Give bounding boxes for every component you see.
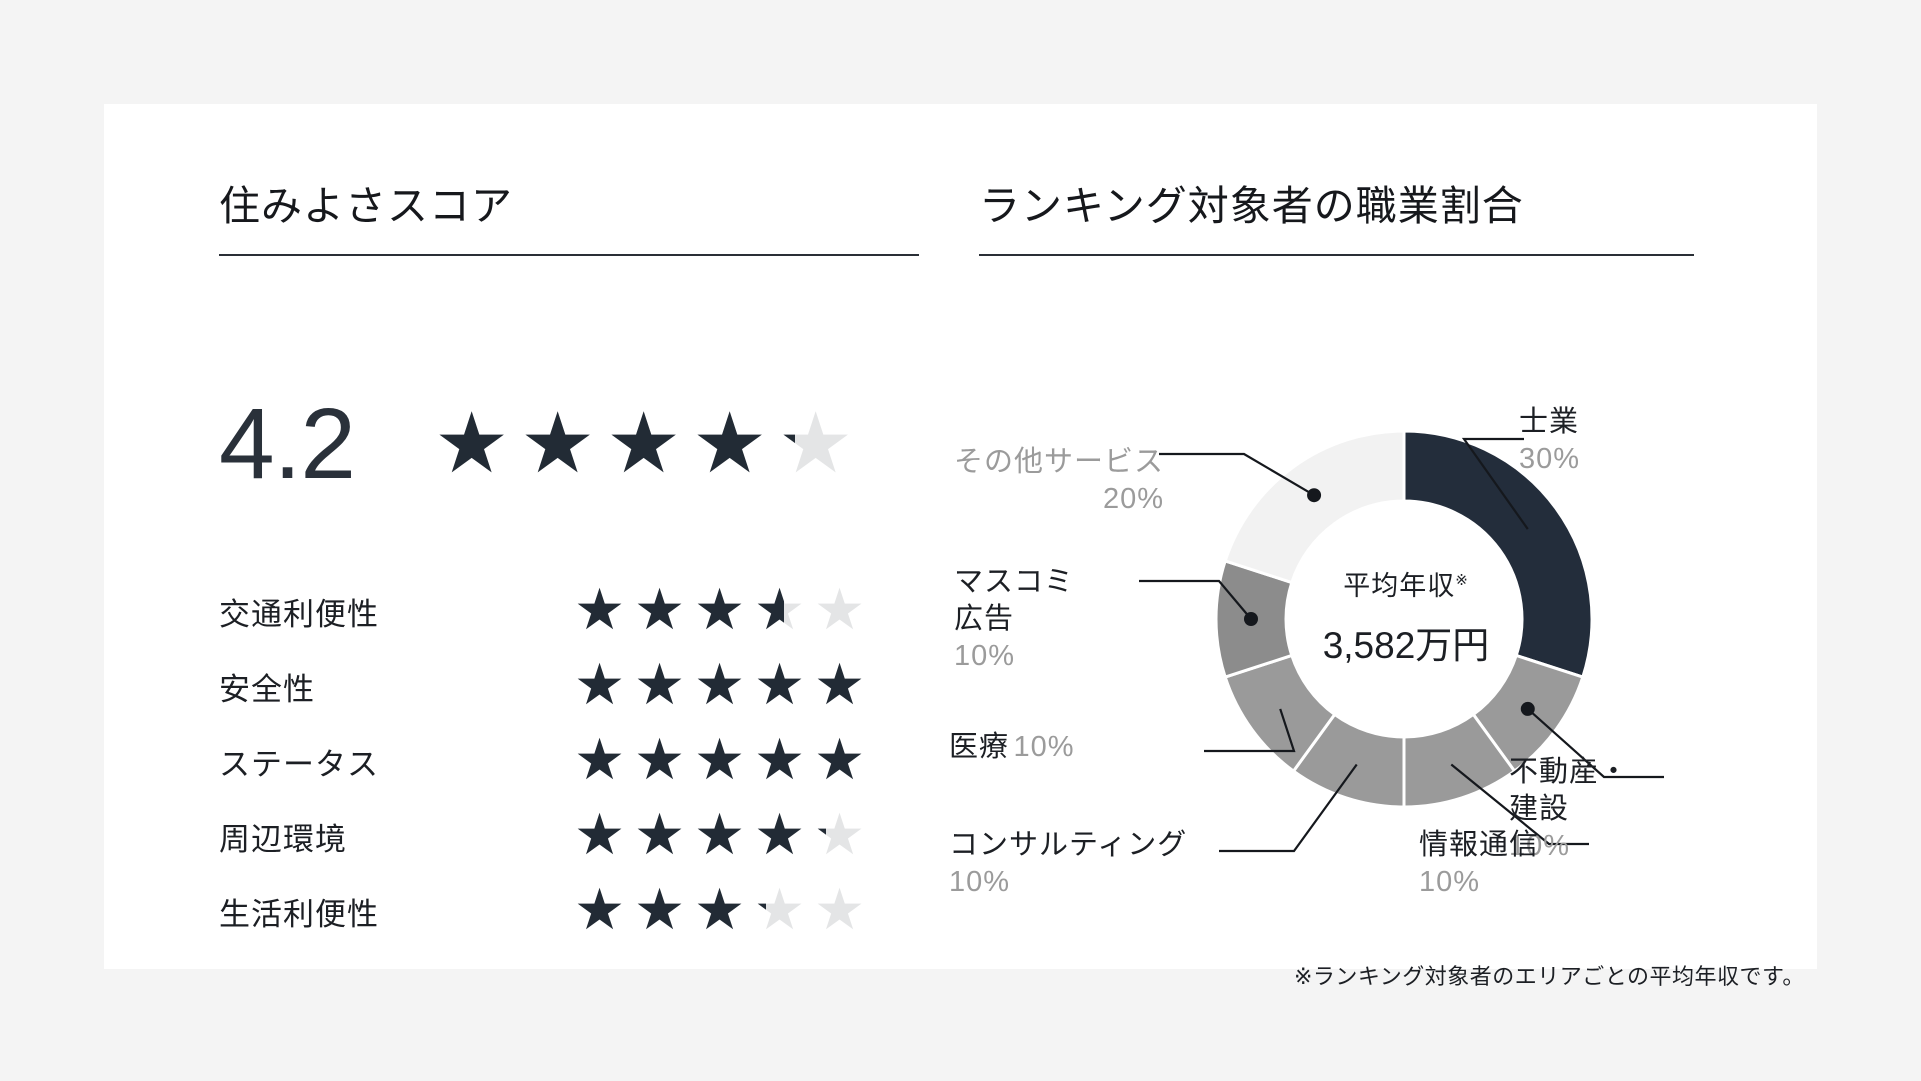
star-icon: ★★	[634, 732, 694, 792]
overall-star-rating: ★★★★★★★★★★	[434, 401, 864, 487]
star-icon: ★★	[754, 657, 814, 717]
star-filled-glyph: ★	[692, 401, 778, 485]
metric-row: 安全性★★★★★★★★★★	[219, 649, 919, 724]
star-icon: ★★	[574, 807, 634, 867]
star-icon: ★★	[694, 732, 754, 792]
star-filled-glyph: ★	[520, 401, 606, 485]
star-filled-glyph: ★	[606, 401, 692, 485]
star-icon: ★★	[814, 732, 874, 792]
star-filled-glyph: ★	[814, 657, 874, 714]
star-icon: ★★	[694, 582, 754, 642]
star-icon: ★★	[434, 401, 520, 487]
content-card: 住みよさスコア 4.2 ★★★★★★★★★★ 交通利便性★★★★★★★★★★安全…	[104, 104, 1817, 969]
star-filled-glyph: ★	[814, 807, 826, 864]
star-empty-glyph: ★	[814, 582, 874, 639]
overall-score-row: 4.2 ★★★★★★★★★★	[219, 394, 864, 494]
star-icon: ★★	[694, 657, 754, 717]
star-filled-glyph: ★	[574, 657, 634, 714]
star-empty-glyph: ★	[814, 882, 874, 939]
average-income-label: 平均年収※	[1286, 564, 1526, 603]
star-icon: ★★	[634, 582, 694, 642]
star-icon: ★★	[574, 882, 634, 942]
leader-dot	[1521, 702, 1535, 716]
metric-row: ステータス★★★★★★★★★★	[219, 724, 919, 799]
metric-star-rating: ★★★★★★★★★★	[574, 882, 874, 942]
star-filled-glyph: ★	[574, 732, 634, 789]
star-filled-glyph: ★	[754, 732, 814, 789]
star-icon: ★★	[754, 582, 814, 642]
star-filled-glyph: ★	[634, 807, 694, 864]
metric-label: 周辺環境	[219, 814, 574, 859]
star-icon: ★★	[634, 657, 694, 717]
star-filled-glyph: ★	[634, 882, 694, 939]
donut-chart: 平均年収※ 3,582万円 その他サービス 20% マスコミ 広告 10% 医療…	[964, 319, 1784, 919]
star-icon: ★★	[634, 882, 694, 942]
star-filled-glyph: ★	[574, 882, 634, 939]
star-filled-glyph: ★	[694, 882, 754, 939]
star-filled-glyph: ★	[694, 582, 754, 639]
metric-label: ステータス	[219, 739, 574, 784]
star-icon: ★★	[754, 807, 814, 867]
star-filled-glyph: ★	[778, 401, 795, 485]
star-icon: ★★	[520, 401, 606, 487]
metric-star-rating: ★★★★★★★★★★	[574, 657, 874, 717]
star-icon: ★★	[754, 732, 814, 792]
chart-footnote: ※ランキング対象者のエリアごとの平均年収です。	[1294, 959, 1805, 991]
leader-dot	[1244, 612, 1258, 626]
donut-segment[interactable]	[1225, 431, 1404, 583]
panel-title-livability: 住みよさスコア	[219, 172, 919, 232]
metric-star-rating: ★★★★★★★★★★	[574, 807, 874, 867]
star-icon: ★★	[634, 807, 694, 867]
metric-label: 交通利便性	[219, 589, 574, 634]
star-icon: ★★	[754, 882, 814, 942]
star-icon: ★★	[814, 882, 874, 942]
star-icon: ★★	[574, 657, 634, 717]
label-media-advertising: マスコミ 広告 10%	[954, 564, 1074, 675]
star-icon: ★★	[694, 882, 754, 942]
metric-label: 生活利便性	[219, 889, 574, 934]
star-filled-glyph: ★	[754, 582, 784, 639]
star-icon: ★★	[814, 657, 874, 717]
title-divider-left	[219, 254, 919, 256]
donut-center-text: 平均年収※ 3,582万円	[1286, 564, 1526, 669]
star-filled-glyph: ★	[694, 807, 754, 864]
star-icon: ★★	[814, 807, 874, 867]
star-icon: ★★	[574, 732, 634, 792]
star-filled-glyph: ★	[434, 401, 520, 485]
metric-label: 安全性	[219, 664, 574, 709]
star-filled-glyph: ★	[574, 807, 634, 864]
metric-star-rating: ★★★★★★★★★★	[574, 732, 874, 792]
footnote-mark: ※	[1455, 572, 1469, 589]
star-icon: ★★	[606, 401, 692, 487]
metric-row: 生活利便性★★★★★★★★★★	[219, 874, 919, 949]
overall-score-value: 4.2	[219, 394, 434, 494]
panel-title-occupation: ランキング対象者の職業割合	[979, 172, 1694, 232]
label-it-communications: 情報通信 10%	[1419, 827, 1539, 901]
label-professional: 士業 30%	[1519, 404, 1580, 478]
star-icon: ★★	[574, 582, 634, 642]
metric-row: 周辺環境★★★★★★★★★★	[219, 799, 919, 874]
star-filled-glyph: ★	[634, 732, 694, 789]
star-icon: ★★	[692, 401, 778, 487]
label-medical: 医療 10%	[949, 729, 1075, 766]
star-filled-glyph: ★	[634, 582, 694, 639]
star-filled-glyph: ★	[634, 657, 694, 714]
leader-dot	[1307, 488, 1321, 502]
occupation-panel: ランキング対象者の職業割合	[979, 172, 1694, 256]
star-icon: ★★	[814, 582, 874, 642]
star-filled-glyph: ★	[754, 657, 814, 714]
average-income-label-text: 平均年収	[1343, 571, 1455, 601]
title-divider-right	[979, 254, 1694, 256]
label-other-service: その他サービス 20%	[944, 444, 1164, 518]
metric-star-rating: ★★★★★★★★★★	[574, 582, 874, 642]
livability-panel: 住みよさスコア	[219, 172, 919, 256]
star-filled-glyph: ★	[574, 582, 634, 639]
star-filled-glyph: ★	[754, 807, 814, 864]
star-icon: ★★	[694, 807, 754, 867]
star-filled-glyph: ★	[694, 732, 754, 789]
metric-row: 交通利便性★★★★★★★★★★	[219, 574, 919, 649]
metric-list: 交通利便性★★★★★★★★★★安全性★★★★★★★★★★ステータス★★★★★★★…	[219, 574, 919, 949]
star-filled-glyph: ★	[694, 657, 754, 714]
star-icon: ★★	[778, 401, 864, 487]
star-filled-glyph: ★	[754, 882, 766, 939]
average-income-value: 3,582万円	[1286, 615, 1526, 669]
star-filled-glyph: ★	[814, 732, 874, 789]
label-consulting: コンサルティング 10%	[949, 827, 1187, 901]
